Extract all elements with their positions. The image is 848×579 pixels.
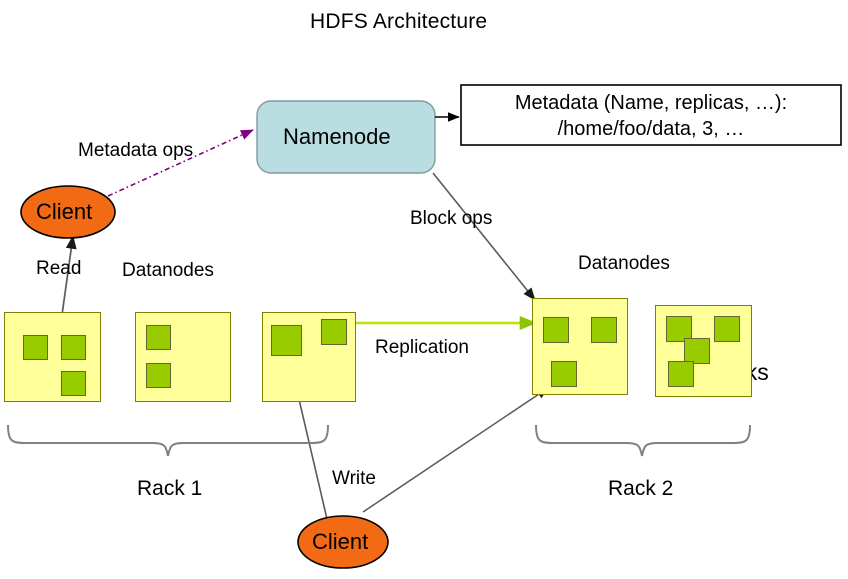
data-block xyxy=(61,335,86,360)
datanode-box[interactable] xyxy=(532,298,628,395)
data-block xyxy=(321,319,347,345)
datanode-box[interactable] xyxy=(135,312,231,402)
data-block xyxy=(23,335,48,360)
datanode-box[interactable] xyxy=(4,312,101,402)
data-block xyxy=(591,317,617,343)
data-block xyxy=(668,361,694,387)
data-block xyxy=(551,361,577,387)
datanode-box[interactable] xyxy=(655,305,752,397)
data-block xyxy=(543,317,569,343)
data-block xyxy=(146,325,171,350)
data-block xyxy=(146,363,171,388)
data-block xyxy=(271,325,302,356)
hdfs-architecture-diagram: HDFS Architecture Namenode Client Client… xyxy=(0,0,848,579)
datanode-layer xyxy=(0,0,848,579)
data-block xyxy=(61,371,86,396)
datanode-box[interactable] xyxy=(262,312,356,402)
data-block xyxy=(714,316,740,342)
